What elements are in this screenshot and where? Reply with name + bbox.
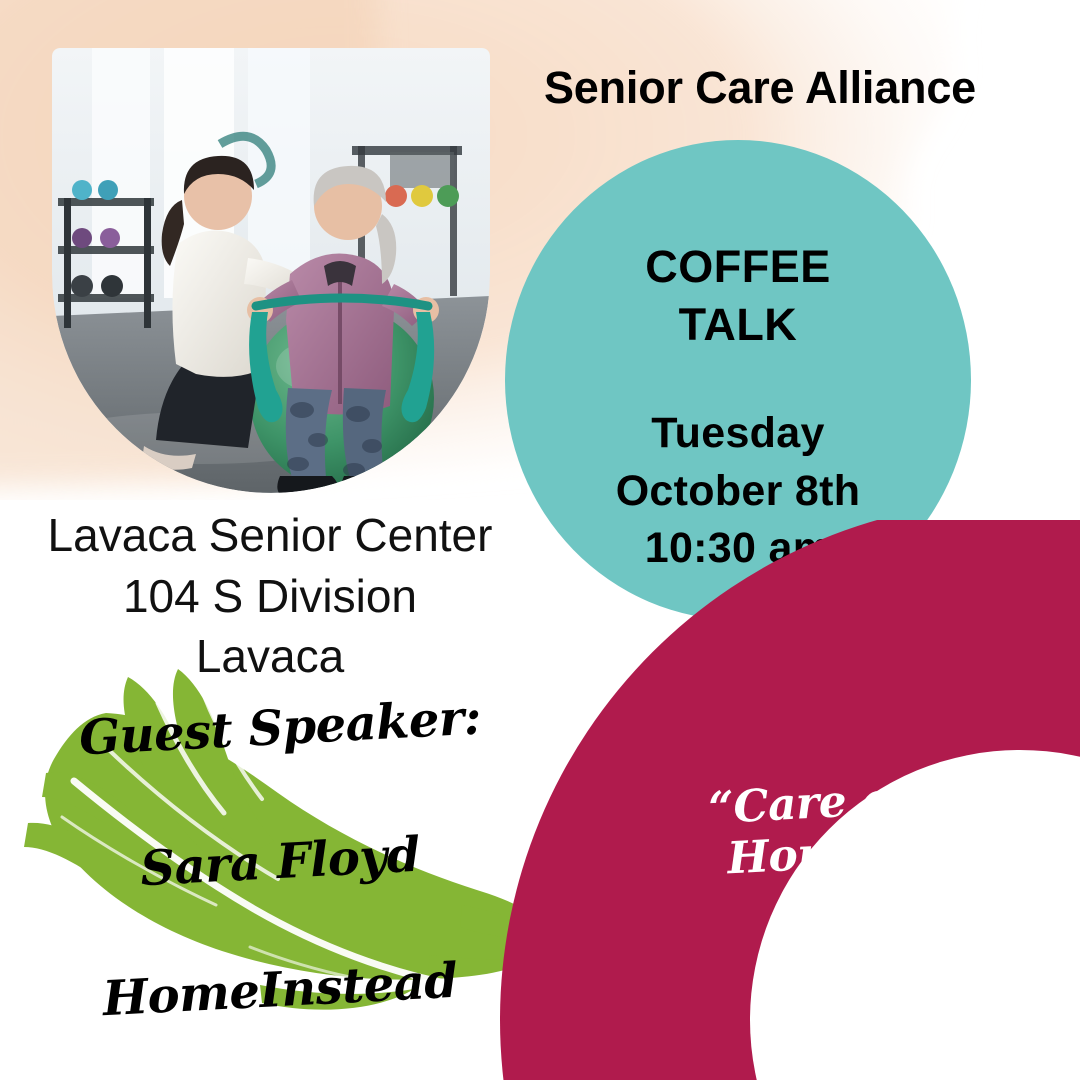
speaker-organization: HomeInstead xyxy=(39,949,521,1030)
venue-name: Lavaca Senior Center xyxy=(10,505,530,566)
flyer-canvas: Senior Care Alliance COFFEE TALK Tuesday… xyxy=(0,0,1080,1080)
event-heading: COFFEE TALK xyxy=(645,238,831,353)
event-heading-line-2: TALK xyxy=(645,296,831,354)
event-datetime: Tuesday October 8th 10:30 am xyxy=(616,405,861,578)
venue-street: 104 S Division xyxy=(10,566,530,627)
event-date: October 8th xyxy=(616,463,861,521)
speaker-block: Guest Speaker: Sara Floyd HomeInstead xyxy=(40,700,520,1018)
event-detail-circle: COFFEE TALK Tuesday October 8th 10:30 am xyxy=(505,140,971,620)
event-time: 10:30 am xyxy=(616,520,861,578)
page-title: Senior Care Alliance xyxy=(480,62,1040,114)
hero-photo-illustration xyxy=(52,48,490,493)
speaker-name: Sara Floyd xyxy=(39,821,521,902)
tagline-care-at-home: “Care at Home” xyxy=(618,768,1003,890)
speaker-label: Guest Speaker: xyxy=(39,687,521,768)
venue-address: Lavaca Senior Center 104 S Division Lava… xyxy=(10,505,530,687)
venue-city: Lavaca xyxy=(10,626,530,687)
event-day: Tuesday xyxy=(616,405,861,463)
event-heading-line-1: COFFEE xyxy=(645,238,831,296)
hero-photo-arch xyxy=(52,48,490,493)
